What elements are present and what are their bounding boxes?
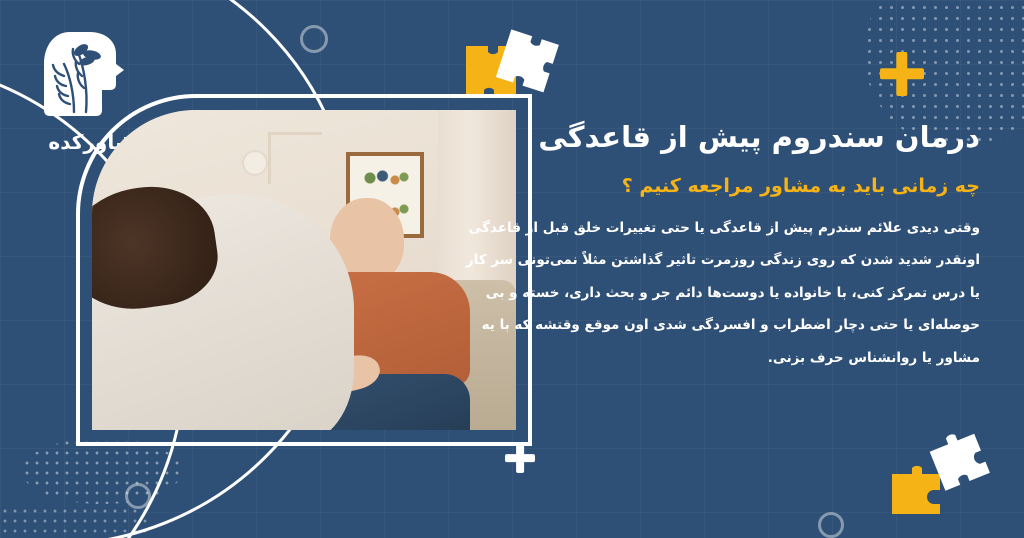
body-paragraph: وقتی دیدی علائم سندرم پیش از قاعدگی یا ح…: [510, 222, 980, 366]
body-line: حوصله‌ای یا حتی دچار اضطراب و افسردگی شد…: [510, 319, 980, 333]
counseling-session-photo: [92, 110, 516, 430]
client-figure: [92, 194, 354, 430]
poster-canvas: مشاورکده: [0, 0, 1024, 538]
ring-icon-top: [300, 25, 328, 53]
ring-icon-bottom-right: [818, 512, 844, 538]
ring-icon-bottom-left: [125, 483, 151, 509]
plus-icon-gold: [880, 52, 924, 96]
body-line: یا درس تمرکز کنی، با خانواده یا دوست‌ها …: [510, 287, 980, 301]
plus-icon-white: [505, 443, 535, 473]
body-line: اونقدر شدید شدن که روی زندگی روزمرت تاثی…: [510, 254, 980, 268]
page-subtitle: چه زمانی باید به مشاور مراجعه کنیم ؟: [510, 173, 980, 200]
body-line: مشاور یا روانشناس حرف بزنی.: [510, 352, 980, 366]
page-title: درمان سندروم پیش از قاعدگی: [510, 118, 980, 157]
body-line: وقتی دیدی علائم سندرم پیش از قاعدگی یا ح…: [510, 222, 980, 236]
text-content-block: درمان سندروم پیش از قاعدگی چه زمانی باید…: [510, 118, 980, 384]
